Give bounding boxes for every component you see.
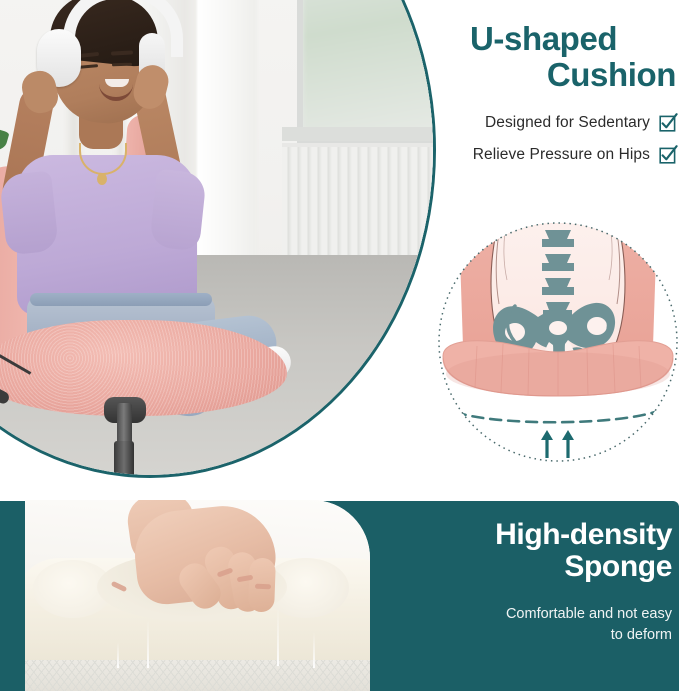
hand-ring-crease [255, 584, 271, 590]
lifestyle-photo-circle [0, 0, 436, 478]
page-title-line2: Cushion [432, 58, 678, 92]
dashed-curve-line [455, 410, 661, 422]
person-jeans-waistband [30, 293, 212, 306]
diagram-body-group [443, 218, 673, 458]
checkbox-checked-icon [659, 113, 678, 132]
upward-arrow-right-head [562, 430, 574, 440]
window-glass [303, 0, 433, 141]
foam-highlight [277, 608, 279, 666]
cushion-shadow [446, 352, 670, 396]
sponge-title-line2: Sponge [432, 551, 672, 582]
foam-highlight [147, 620, 149, 668]
feature-checklist: Designed for Sedentary Relieve Pressure … [432, 113, 678, 164]
lifestyle-photo-content [0, 0, 433, 475]
radiator [282, 143, 433, 267]
foam-photo [25, 500, 370, 691]
foam-highlight [313, 632, 315, 668]
sponge-subtitle-line2: to deform [432, 625, 672, 646]
headphones-headband [63, 0, 183, 57]
feature-item: Designed for Sedentary [432, 113, 678, 132]
high-density-sponge-text-block: High-density Sponge Comfortable and not … [432, 519, 672, 646]
pelvis-on-cushion-diagram [437, 218, 679, 466]
person-right-sleeve [149, 169, 207, 252]
window-frame [297, 0, 433, 147]
infographic-board: U-shaped Cushion Designed for Sedentary … [0, 0, 679, 691]
sponge-subtitle-line1: Comfortable and not easy [432, 604, 672, 625]
foam-highlight [117, 642, 119, 668]
feature-label: Designed for Sedentary [485, 114, 650, 132]
person-left-sleeve [0, 171, 59, 256]
u-shaped-cushion-text-block: U-shaped Cushion Designed for Sedentary … [432, 22, 678, 177]
foam-mesh-base [25, 660, 370, 691]
upward-arrow-left-head [541, 430, 553, 440]
curtain-right [197, 0, 257, 295]
chair-base-stem [114, 441, 134, 475]
upward-arrows [541, 430, 574, 458]
window-sill [282, 127, 433, 141]
feature-item: Relieve Pressure on Hips [432, 145, 678, 164]
page-title-line1: U-shaped [432, 22, 678, 56]
feature-label: Relieve Pressure on Hips [473, 146, 650, 164]
sponge-title-line1: High-density [432, 519, 672, 550]
checkbox-checked-icon [659, 145, 678, 164]
person-necklace-pendant [97, 173, 107, 185]
